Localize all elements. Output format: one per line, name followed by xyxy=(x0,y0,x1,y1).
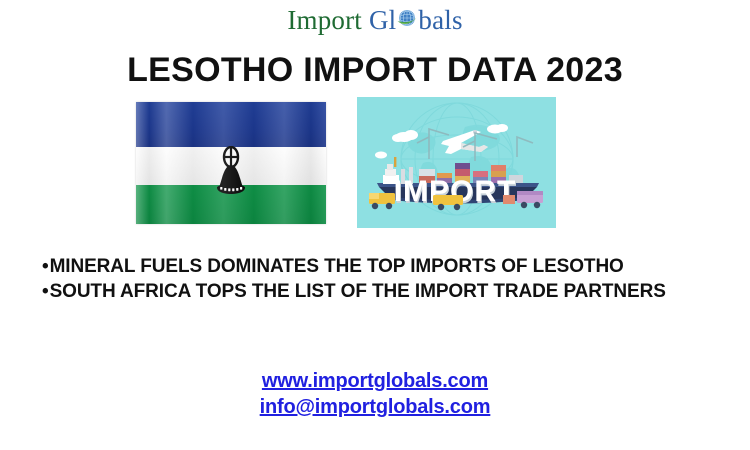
crane-icon xyxy=(417,129,533,161)
bullet-marker: • xyxy=(42,279,49,304)
key-points-list: •MINERAL FUELS DOMINATES THE TOP IMPORTS… xyxy=(42,254,722,304)
lesotho-flag-image xyxy=(128,96,333,229)
import-scene-graphic: IMPORT IMPORT xyxy=(357,97,556,228)
page-title: LESOTHO IMPORT DATA 2023 xyxy=(0,50,750,90)
logo-text-bals: bals xyxy=(418,7,462,34)
cloud-icon xyxy=(375,124,508,159)
brand-logo[interactable]: Import Gl bals xyxy=(0,6,750,34)
logo-text-gl: Gl xyxy=(369,7,396,34)
website-link[interactable]: www.importglobals.com xyxy=(0,368,750,394)
contact-links: www.importglobals.com info@importglobals… xyxy=(0,368,750,420)
slide-canvas: Import Gl bals LESOTHO IMPORT DATA 2023 xyxy=(0,0,750,450)
import-illustration-image: IMPORT IMPORT xyxy=(357,97,556,228)
flag-band-blue xyxy=(136,102,326,147)
list-item-label: MINERAL FUELS DOMINATES THE TOP IMPORTS … xyxy=(50,256,624,277)
email-link[interactable]: info@importglobals.com xyxy=(0,394,750,420)
airplane-icon xyxy=(441,130,488,154)
flag-canvas xyxy=(136,102,326,224)
mokorotlo-hat-icon xyxy=(211,146,251,198)
logo-text-import: Import xyxy=(287,7,362,34)
list-item: •SOUTH AFRICA TOPS THE LIST OF THE IMPOR… xyxy=(42,279,722,304)
list-item: •MINERAL FUELS DOMINATES THE TOP IMPORTS… xyxy=(42,254,722,279)
list-item-label: SOUTH AFRICA TOPS THE LIST OF THE IMPORT… xyxy=(50,281,666,302)
images-row: IMPORT IMPORT xyxy=(0,96,750,232)
bullet-marker: • xyxy=(42,254,49,279)
globe-icon xyxy=(396,7,418,29)
